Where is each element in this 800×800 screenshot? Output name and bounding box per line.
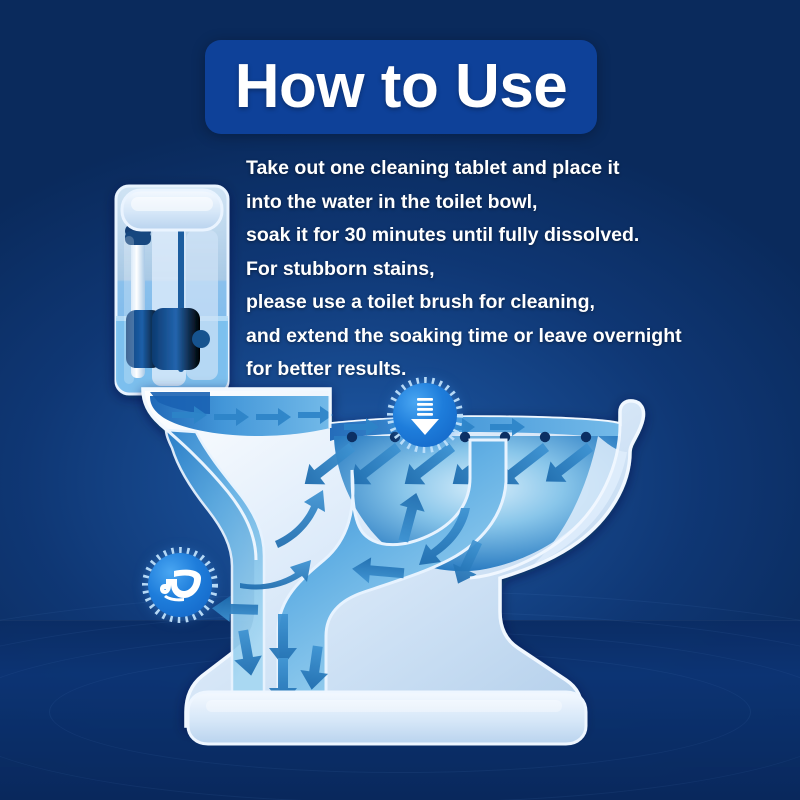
poster-canvas: How to Use Take out one cleaning tablet … — [0, 0, 800, 800]
down-arrow-icon — [405, 394, 445, 436]
base-plinth — [188, 692, 586, 744]
tablet-drop-badge — [386, 376, 464, 454]
tank-glass-highlight — [124, 236, 134, 384]
instruction-line: For stubborn stains, — [246, 253, 716, 287]
jet-hole — [581, 432, 591, 442]
instructions-block: Take out one cleaning tablet and place i… — [246, 152, 716, 387]
base-highlight — [206, 700, 562, 712]
instruction-line: into the water in the toilet bowl, — [246, 186, 716, 220]
pedestal-base — [188, 692, 586, 744]
jet-hole — [347, 432, 357, 442]
toilet-siphon-icon — [157, 567, 203, 603]
instruction-line: for better results. — [246, 353, 716, 387]
cistern-tank — [116, 186, 228, 398]
siphon-drain-badge — [141, 546, 219, 624]
page-title: How to Use — [235, 56, 568, 118]
tank-lid-highlight — [131, 197, 213, 211]
instruction-line: please use a toilet brush for cleaning, — [246, 286, 716, 320]
instruction-line: Take out one cleaning tablet and place i… — [246, 152, 716, 186]
valve-outlet — [192, 330, 210, 348]
instruction-line: and extend the soaking time or leave ove… — [246, 320, 716, 354]
title-banner: How to Use — [205, 40, 597, 134]
jet-hole — [540, 432, 550, 442]
instruction-line: soak it for 30 minutes until fully disso… — [246, 219, 716, 253]
